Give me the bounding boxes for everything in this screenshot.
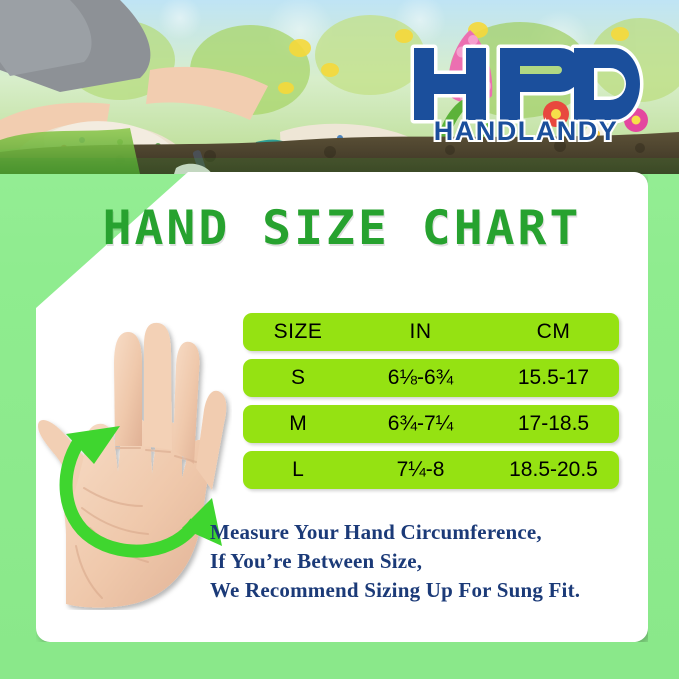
hand-size-chart-page: HANDLANDY HAND SIZE CHART	[0, 0, 679, 679]
cell-size: S	[243, 366, 353, 390]
cell-cm: 15.5-17	[488, 366, 619, 390]
table-row: L 7¼-8 18.5-20.5	[243, 451, 619, 489]
note-line-1: Measure Your Hand Circumference,	[210, 518, 640, 547]
hand-measure-illustration	[36, 322, 232, 610]
logo-wordmark: HANDLANDY	[434, 116, 619, 144]
cell-in: 6¾-7¼	[353, 412, 488, 436]
handlandy-logo-icon: HANDLANDY	[408, 36, 646, 144]
note-line-2: If You’re Between Size,	[210, 547, 640, 576]
note-line-3: We Recommend Sizing Up For Sung Fit.	[210, 576, 640, 605]
cell-size: L	[243, 458, 353, 482]
brand-logo: HANDLANDY	[408, 36, 646, 144]
header-in: IN	[353, 320, 488, 344]
table-row: S 6⅛-6¾ 15.5-17	[243, 359, 619, 397]
table-header-row: SIZE IN CM	[243, 313, 619, 351]
cell-in: 7¼-8	[353, 458, 488, 482]
size-table: SIZE IN CM S 6⅛-6¾ 15.5-17 M 6¾-7¼ 17-18…	[243, 313, 619, 497]
sizing-note: Measure Your Hand Circumference, If You’…	[210, 518, 640, 605]
cell-in: 6⅛-6¾	[353, 366, 488, 390]
header-size: SIZE	[243, 320, 353, 344]
page-title: HAND SIZE CHART	[30, 200, 654, 258]
cell-cm: 18.5-20.5	[488, 458, 619, 482]
hand-palm-icon	[36, 322, 232, 610]
table-row: M 6¾-7¼ 17-18.5	[243, 405, 619, 443]
cell-cm: 17-18.5	[488, 412, 619, 436]
cell-size: M	[243, 412, 353, 436]
header-cm: CM	[488, 320, 619, 344]
